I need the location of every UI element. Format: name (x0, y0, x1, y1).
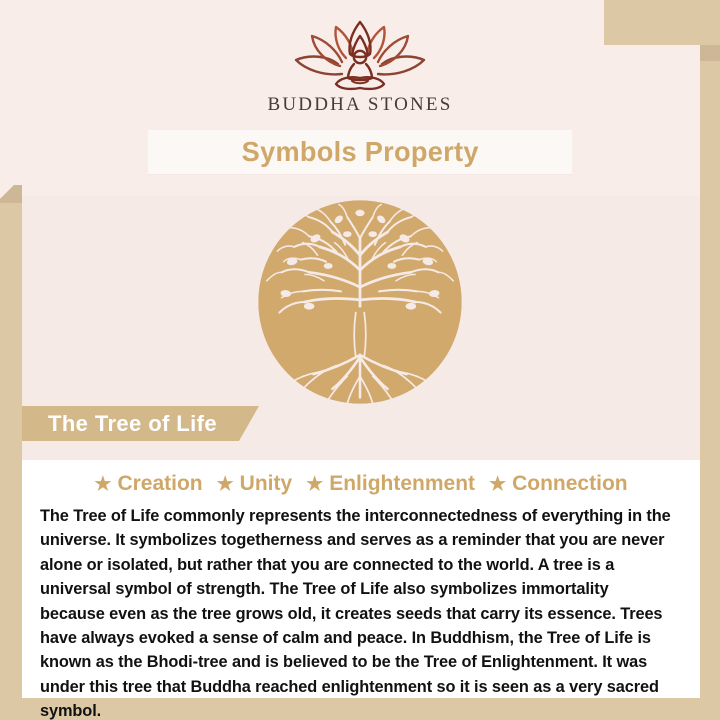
page-title-banner: Symbols Property (148, 130, 572, 174)
brand-name: BUDDHA STONES (0, 94, 720, 116)
description-card: ★ Creation ★ Unity ★ Enlightenment ★ Con… (22, 460, 700, 698)
description-paragraph: The Tree of Life commonly represents the… (40, 504, 672, 720)
keyword-list: ★ Creation ★ Unity ★ Enlightenment ★ Con… (40, 472, 682, 496)
keyword-item-enlightenment: ★ Enlightenment (306, 472, 475, 496)
star-icon: ★ (306, 475, 323, 494)
tree-of-life-icon (254, 196, 466, 408)
keyword-label: Creation (117, 472, 202, 496)
keyword-item-creation: ★ Creation (94, 472, 202, 496)
keyword-label: Connection (512, 472, 628, 496)
star-icon: ★ (94, 475, 111, 494)
tree-illustration (0, 196, 720, 413)
infographic-page: BUDDHA STONES Symbols Property (0, 0, 720, 720)
section-ribbon: The Tree of Life (22, 406, 259, 441)
brand-logo: BUDDHA STONES (0, 18, 720, 116)
keyword-item-unity: ★ Unity (217, 472, 293, 496)
keyword-item-connection: ★ Connection (489, 472, 628, 496)
star-icon: ★ (217, 475, 234, 494)
star-icon: ★ (489, 475, 506, 494)
ribbon-label: The Tree of Life (48, 411, 217, 437)
keyword-label: Unity (240, 472, 293, 496)
keyword-label: Enlightenment (329, 472, 475, 496)
page-title: Symbols Property (241, 136, 478, 168)
lotus-meditation-icon (280, 18, 440, 92)
